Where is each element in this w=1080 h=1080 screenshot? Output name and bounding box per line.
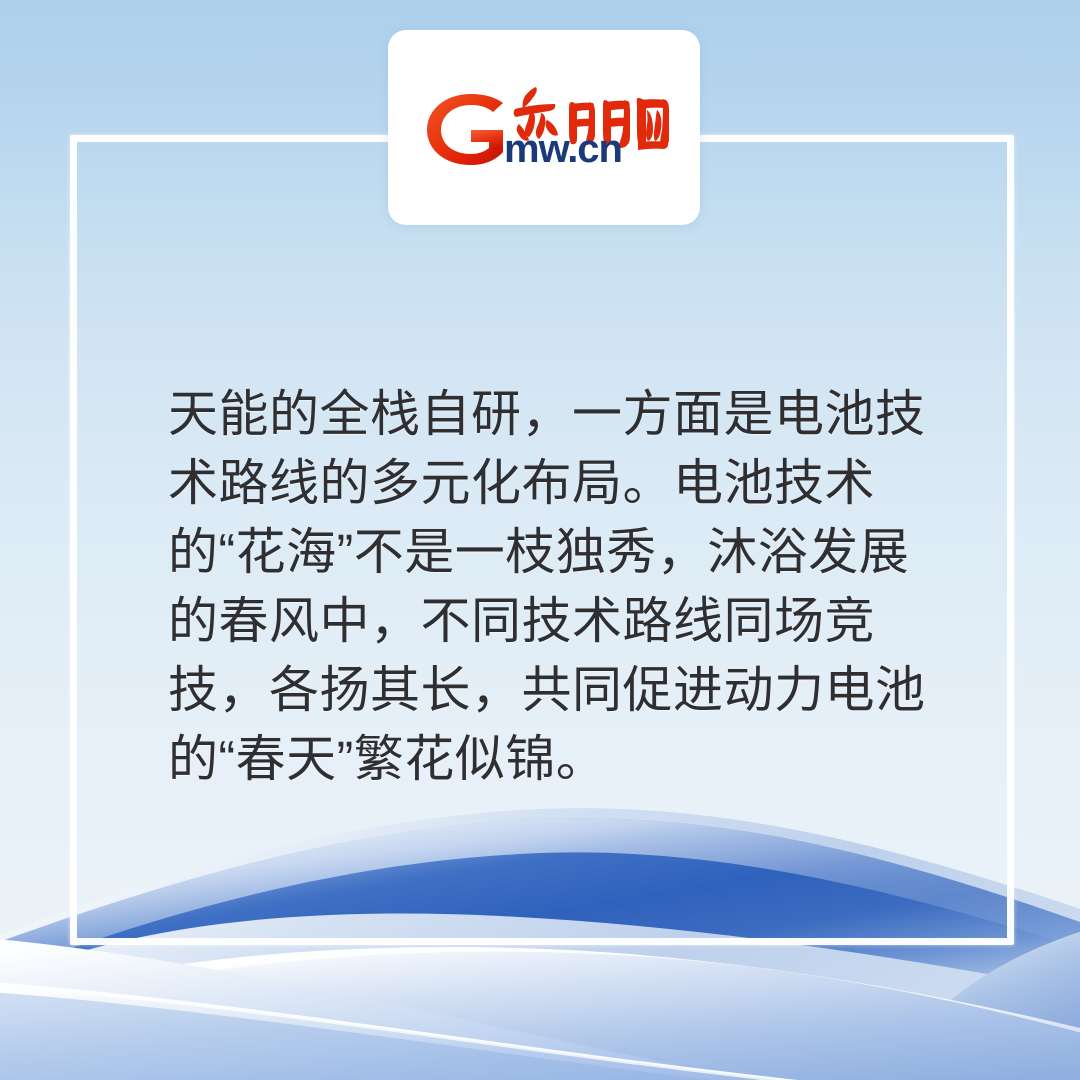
logo-g-mark xyxy=(427,94,503,165)
article-paragraph: 天能的全栈自研，一方面是电池技术路线的多元化布局。电池技术的“花海”不是一枝独秀… xyxy=(168,380,943,794)
gmw-logo: mw.cn xyxy=(419,82,669,174)
frame-bottom-mask xyxy=(0,930,1080,1080)
brand-logo-card[interactable]: mw.cn xyxy=(388,30,700,225)
poster-canvas: mw.cn 天能的全栈自研，一方面是电池技术路线的多元化布局。电池技术的“花海”… xyxy=(0,0,1080,1080)
logo-domain-text: mw.cn xyxy=(504,127,622,171)
logo-chinese-brand-wang xyxy=(637,98,669,150)
